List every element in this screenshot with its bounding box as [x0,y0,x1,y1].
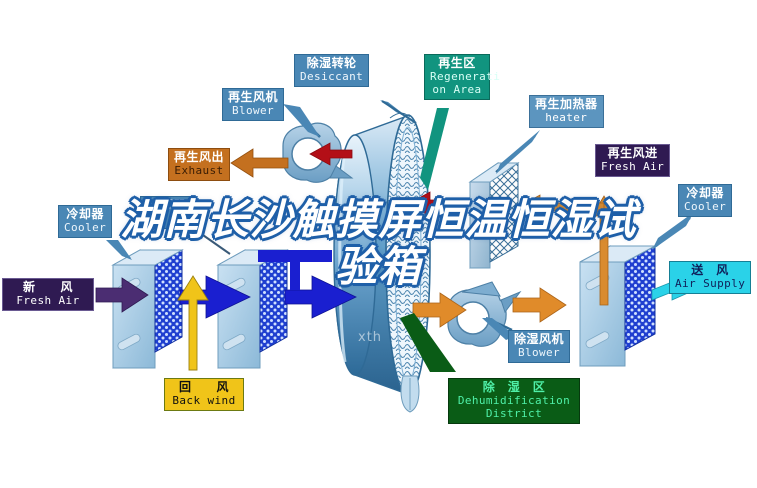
label-desiccant-rotor-cn: 除湿转轮 [300,57,363,70]
label-exhaust-cn: 再生风出 [174,151,224,164]
label-regeneration-area-cn: 再生区 [430,57,484,70]
leader-cooler-left-1 [106,240,132,260]
regeneration-heater [470,163,518,268]
label-cooler-left-2: 冷却器 Cooler [140,196,194,229]
arrow-exhaust [231,149,288,177]
diagram-canvas: 除湿转轮 Desiccant 再生风机 Blower 再生区 Regenerat… [0,0,757,488]
label-fresh-air-in-en: Fresh Air [8,295,88,307]
label-regen-blower-cn: 再生风机 [228,91,278,104]
label-fresh-air-in: 新 风 Fresh Air [2,278,94,311]
label-regen-fresh-air: 再生风进 Fresh Air [595,144,670,177]
arrow-dehum-blower-to-cooler [513,288,566,322]
label-back-wind: 回 风 Back wind [164,378,244,411]
label-regeneration-heater-en: heater [535,112,598,124]
label-regeneration-heater: 再生加热器 heater [529,95,604,128]
label-regen-blower-en: Blower [228,105,278,117]
label-cooler-left-1-cn: 冷却器 [64,208,106,221]
label-dehumidification-district-en2: District [454,408,574,420]
label-exhaust-en: Exhaust [174,165,224,177]
label-regen-fresh-air-en: Fresh Air [601,161,664,173]
label-fresh-air-in-cn: 新 风 [8,281,88,294]
label-cooler-left-1: 冷却器 Cooler [58,205,112,238]
label-cooler-left-1-en: Cooler [64,222,106,234]
label-regeneration-area: 再生区 Regenerati on Area [424,54,490,100]
label-air-supply-cn: 送 风 [675,264,745,277]
label-cooler-left-2-cn: 冷却器 [146,199,188,212]
label-dehumidification-district-cn: 除 湿 区 [454,381,574,394]
label-regeneration-heater-cn: 再生加热器 [535,98,598,111]
label-dehum-blower-cn: 除湿风机 [514,333,564,346]
label-desiccant-rotor: 除湿转轮 Desiccant [294,54,369,87]
label-regeneration-area-en1: Regenerati [430,71,484,83]
label-desiccant-rotor-en: Desiccant [300,71,363,83]
label-back-wind-cn: 回 风 [170,381,238,394]
label-back-wind-en: Back wind [170,395,238,407]
label-regen-blower: 再生风机 Blower [222,88,284,121]
label-regeneration-area-en2: on Area [430,84,484,96]
cooler-unit-left-2 [218,250,287,368]
label-cooler-right: 冷却器 Cooler [678,184,732,217]
label-dehumidification-district: 除 湿 区 Dehumidification District [448,378,580,424]
leader-cooler-right [652,212,694,250]
condensate-drip [401,376,419,412]
leader-cooler-left-2 [190,226,230,254]
label-dehumidification-district-en1: Dehumidification [454,395,574,407]
label-dehum-blower-en: Blower [514,347,564,359]
leader-regen-area [420,108,449,190]
label-cooler-right-en: Cooler [684,201,726,213]
label-air-supply: 送 风 Air Supply [669,261,751,294]
label-air-supply-en: Air Supply [675,278,745,290]
label-cooler-right-cn: 冷却器 [684,187,726,200]
label-regen-fresh-air-cn: 再生风进 [601,147,664,160]
arrow-regen-fresh-air-left [518,195,604,219]
diagram-illustration [0,0,757,488]
label-dehum-blower: 除湿风机 Blower [508,330,570,363]
label-exhaust: 再生风出 Exhaust [168,148,230,181]
cooler-unit-right [580,246,655,366]
